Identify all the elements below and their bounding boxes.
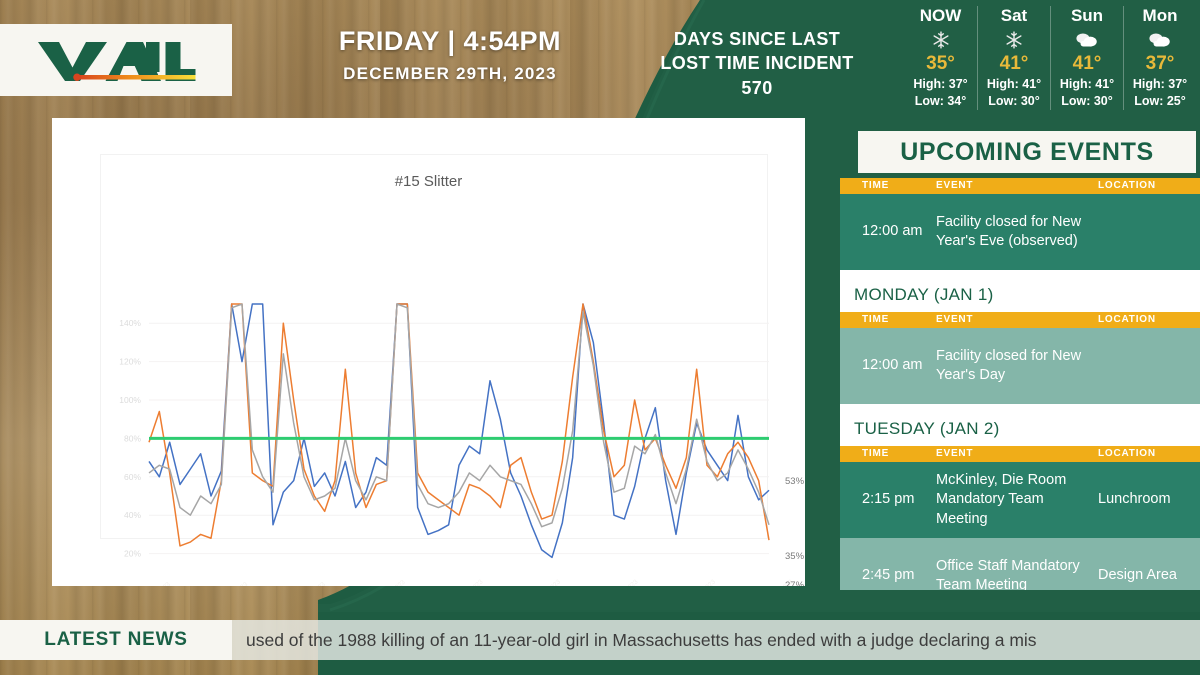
cloud-icon <box>1053 28 1121 52</box>
col-header-location: LOCATION <box>1094 448 1200 459</box>
events-column-header: TIMEEVENTLOCATION <box>840 446 1200 462</box>
weather-low: Low: 30° <box>980 93 1048 110</box>
col-header-event: EVENT <box>936 448 1094 459</box>
vail-logo-icon <box>32 36 200 84</box>
weather-day-name: Mon <box>1126 6 1194 26</box>
snowflake-icon <box>980 28 1048 52</box>
events-column-header: TIMEEVENTLOCATION <box>840 178 1200 194</box>
series-end-label: 53% <box>785 476 805 487</box>
weather-current-temp: 35° <box>906 52 975 76</box>
weather-low: Low: 34° <box>906 93 975 110</box>
safety-line-1: DAYS SINCE LAST <box>674 29 840 49</box>
event-time: 2:45 pm <box>840 566 936 585</box>
weather-high: High: 37° <box>1126 76 1194 93</box>
upcoming-events-header: UPCOMING EVENTS <box>858 131 1196 173</box>
col-header-time: TIME <box>840 448 936 459</box>
days-since-incident-block: DAYS SINCE LAST LOST TIME INCIDENT 570 <box>612 28 902 101</box>
event-row[interactable]: 2:15 pmMcKinley, Die Room Mandatory Team… <box>840 462 1200 538</box>
vail-logo-card <box>0 24 232 96</box>
weather-day-sun: Sun41°High: 41°Low: 30° <box>1050 6 1123 110</box>
weather-day-name: Sun <box>1053 6 1121 26</box>
col-header-location: LOCATION <box>1094 314 1200 325</box>
x-axis-tick-label: 12/21/2023 <box>611 578 640 586</box>
event-row[interactable]: 12:00 amFacility closed for New Year's E… <box>840 194 1200 270</box>
line-chart-plot: 0%20%40%60%80%100%120%140%12/1/202312/4/… <box>52 118 805 586</box>
weather-day-now: NOW35°High: 37°Low: 34° <box>904 6 977 110</box>
event-location: Lunchroom <box>1094 490 1200 509</box>
date-text: DECEMBER 29TH, 2023 <box>270 64 630 84</box>
latest-news-label: LATEST NEWS <box>44 629 188 651</box>
weather-low: Low: 25° <box>1126 93 1194 110</box>
weather-strip: NOW35°High: 37°Low: 34°Sat41°High: 41°Lo… <box>904 6 1196 110</box>
x-axis-tick-label: 12/1/2023 <box>146 581 172 586</box>
x-axis-tick-label: 12/14/2023 <box>456 578 485 586</box>
x-axis-tick-label: 12/11/2023 <box>378 579 407 586</box>
upcoming-events-title: UPCOMING EVENTS <box>900 138 1153 167</box>
events-day-divider: MONDAY (JAN 1) <box>840 278 1200 312</box>
snowflake-icon <box>906 28 975 52</box>
y-axis-tick-label: 20% <box>124 549 141 559</box>
event-row[interactable]: 2:45 pmOffice Staff Mandatory Team Meeti… <box>840 538 1200 590</box>
chart-inner: #15 Slitter 0%20%40%60%80%100%120%140%12… <box>52 118 805 586</box>
chart-series-line <box>149 304 769 557</box>
col-header-event: EVENT <box>936 314 1094 325</box>
safety-line-2: LOST TIME INCIDENT <box>660 53 853 73</box>
y-axis-tick-label: 60% <box>124 472 141 482</box>
x-axis-tick-label: 12/18/2023 <box>533 578 562 586</box>
events-column-header: TIMEEVENTLOCATION <box>840 312 1200 328</box>
col-header-time: TIME <box>840 314 936 325</box>
col-header-event: EVENT <box>936 180 1094 191</box>
x-axis-tick-label: 12/26/2023 <box>688 578 717 586</box>
weather-high: High: 41° <box>1053 76 1121 93</box>
datetime-block: FRIDAY | 4:54PM DECEMBER 29TH, 2023 <box>270 26 630 84</box>
event-title: McKinley, Die Room Mandatory Team Meetin… <box>936 471 1094 528</box>
chart-series-line <box>149 304 769 546</box>
event-location: Design Area <box>1094 566 1200 585</box>
weather-day-name: Sat <box>980 6 1048 26</box>
weather-day-mon: Mon37°High: 37°Low: 25° <box>1123 6 1196 110</box>
day-time-text: FRIDAY | 4:54PM <box>270 26 630 57</box>
weather-high: High: 37° <box>906 76 975 93</box>
event-time: 2:15 pm <box>840 490 936 509</box>
series-end-label: 27% <box>785 580 805 586</box>
y-axis-tick-label: 100% <box>119 395 141 405</box>
weather-current-temp: 37° <box>1126 52 1194 76</box>
events-spacer <box>840 270 1200 278</box>
weather-day-sat: Sat41°High: 41°Low: 30° <box>977 6 1050 110</box>
event-time: 12:00 am <box>840 356 936 375</box>
safety-count: 570 <box>612 77 902 101</box>
y-axis-tick-label: 40% <box>124 510 141 520</box>
col-header-location: LOCATION <box>1094 180 1200 191</box>
latest-news-label-card: LATEST NEWS <box>0 620 232 660</box>
upcoming-events-list[interactable]: TIMEEVENTLOCATION12:00 amFacility closed… <box>840 178 1200 590</box>
event-time: 12:00 am <box>840 222 936 241</box>
weather-current-temp: 41° <box>1053 52 1121 76</box>
event-row[interactable]: 12:00 amFacility closed for New Year's D… <box>840 328 1200 404</box>
event-title: Facility closed for New Year's Eve (obse… <box>936 213 1094 251</box>
weather-low: Low: 30° <box>1053 93 1121 110</box>
col-header-time: TIME <box>840 180 936 191</box>
y-axis-tick-label: 120% <box>119 357 141 367</box>
chart-series-line <box>149 304 769 527</box>
series-end-label: 35% <box>785 551 805 562</box>
x-axis-tick-label: 12/4/2023 <box>223 581 249 586</box>
event-title: Facility closed for New Year's Day <box>936 347 1094 385</box>
y-axis-tick-label: 140% <box>119 318 141 328</box>
chart-card: #15 Slitter 0%20%40%60%80%100%120%140%12… <box>52 118 805 586</box>
events-spacer <box>840 404 1200 412</box>
y-axis-tick-label: 80% <box>124 433 141 443</box>
event-title: Office Staff Mandatory Team Meeting <box>936 557 1094 590</box>
weather-high: High: 41° <box>980 76 1048 93</box>
x-axis-tick-label: 12/7/2023 <box>301 581 327 586</box>
news-ticker-text: used of the 1988 killing of an 11-year-o… <box>232 630 1037 651</box>
cloud-icon <box>1126 28 1194 52</box>
events-day-divider: TUESDAY (JAN 2) <box>840 412 1200 446</box>
news-ticker: used of the 1988 killing of an 11-year-o… <box>232 620 1200 660</box>
weather-current-temp: 41° <box>980 52 1048 76</box>
weather-day-name: NOW <box>906 6 975 26</box>
